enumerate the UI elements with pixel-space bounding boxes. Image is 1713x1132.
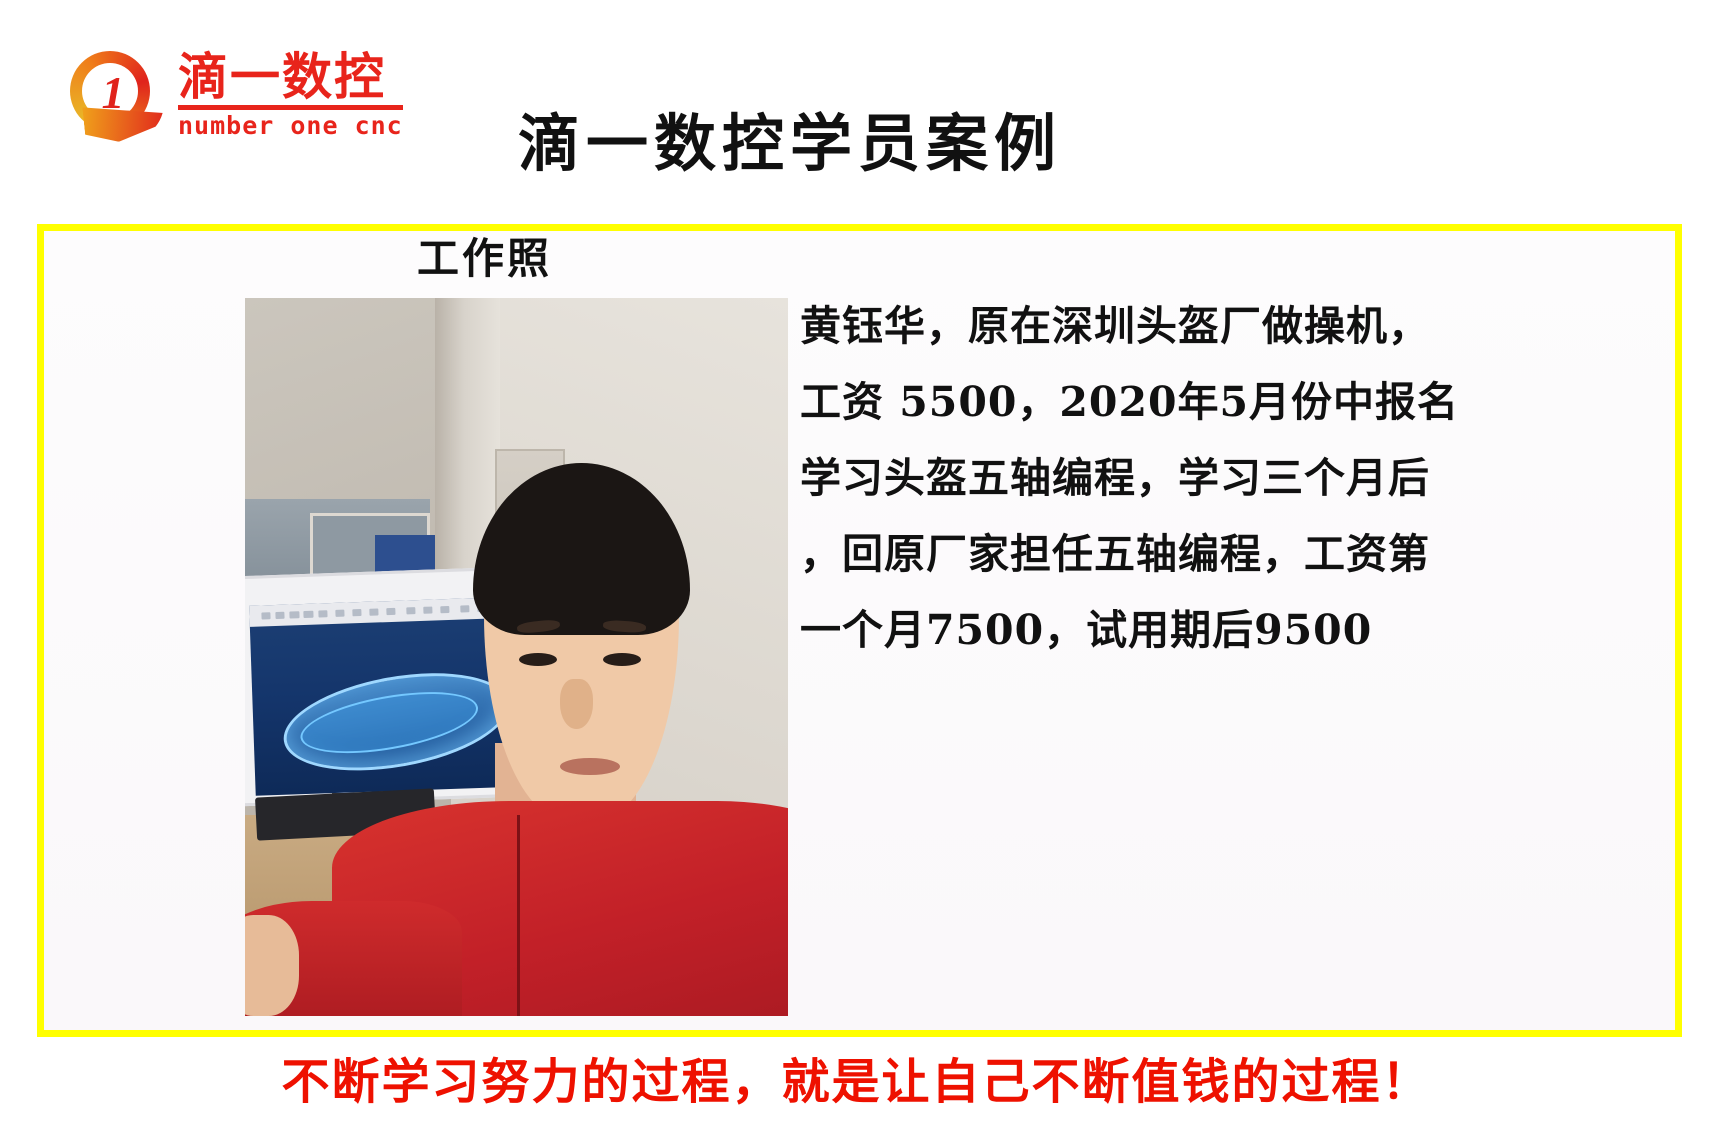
case-description-line: 工资 5500，2020年5月份中报名	[800, 364, 1540, 440]
logo-wordmark: 滴一数控 number one cnc	[178, 50, 403, 139]
case-description-line: 学习头盔五轴编程，学习三个月后	[800, 440, 1540, 516]
logo-chinese-name: 滴一数控	[178, 50, 403, 104]
photo-jacket-zipper	[517, 815, 520, 1016]
photo-caption-label: 工作照	[417, 233, 552, 285]
case-description-line: 一个月7500，试用期后9500	[800, 592, 1540, 668]
case-description-text: 黄钰华，原在深圳头盔厂做操机， 工资 5500，2020年5月份中报名 学习头盔…	[800, 288, 1540, 668]
logo-mark-icon: 1	[62, 45, 166, 145]
student-work-photo	[245, 298, 788, 1016]
brand-logo: 1 滴一数控 number one cnc	[62, 42, 402, 147]
case-description-line: ，回原厂家担任五轴编程，工资第	[800, 516, 1540, 592]
logo-divider	[178, 105, 403, 110]
photo-person-nose	[560, 679, 593, 729]
photo-person-mouth	[560, 758, 620, 775]
case-description-line: 黄钰华，原在深圳头盔厂做操机，	[800, 288, 1540, 364]
page-title: 滴一数控学员案例	[470, 108, 1110, 180]
photo-person-hand	[245, 915, 299, 1016]
footer-slogan: 不断学习努力的过程，就是让自己不断值钱的过程！	[0, 1050, 1713, 1114]
logo-digit-one: 1	[96, 69, 130, 117]
logo-english-name: number one cnc	[178, 112, 403, 139]
